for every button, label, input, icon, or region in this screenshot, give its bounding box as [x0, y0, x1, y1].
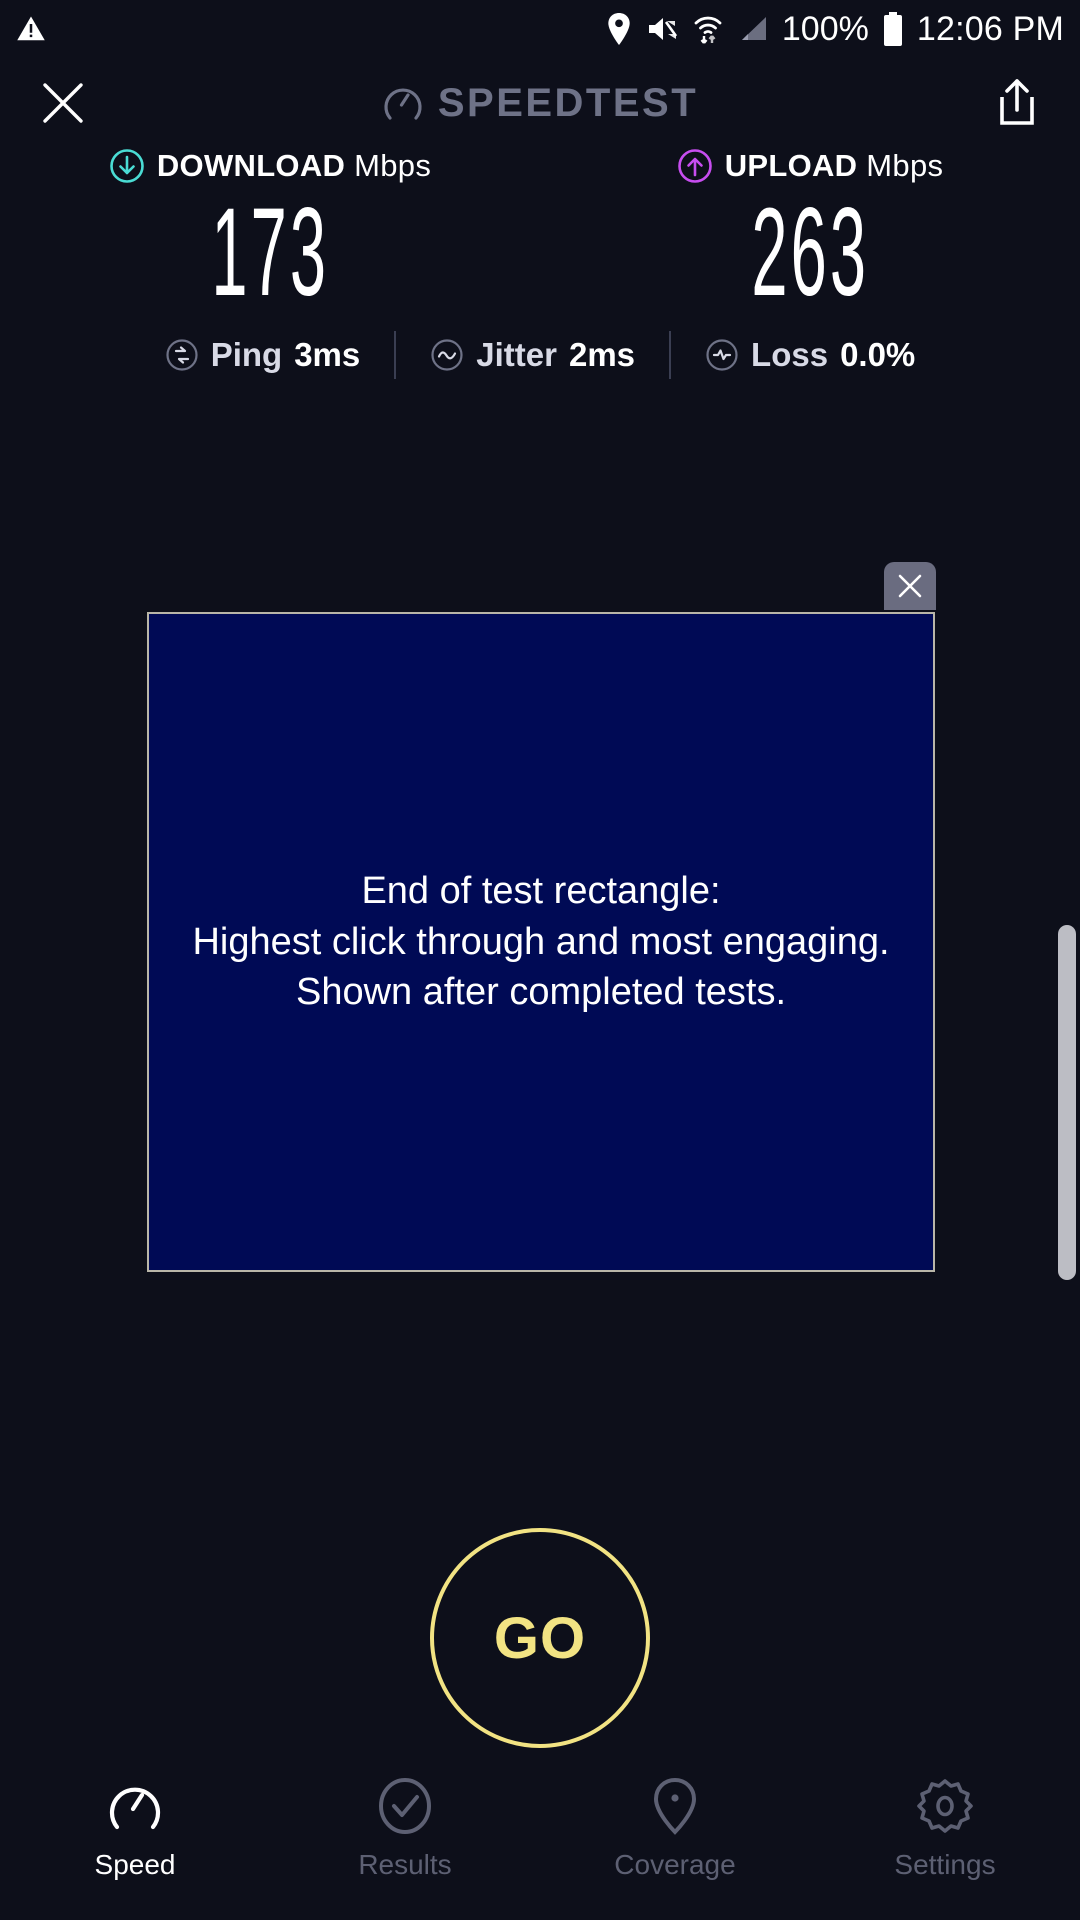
- speedtest-app-screen: 100% 12:06 PM SPEEDTEST: [0, 0, 1080, 1920]
- close-icon: [895, 571, 925, 601]
- nav-item-results[interactable]: Results: [270, 1777, 540, 1881]
- arrow-down-circle-icon: [109, 148, 145, 184]
- status-bar: 100% 12:06 PM: [0, 0, 1080, 58]
- ad-line-2: Highest click through and most engaging.: [192, 917, 889, 968]
- location-pin-icon: [606, 13, 632, 45]
- share-button[interactable]: [994, 77, 1040, 129]
- jitter-value: 2ms: [569, 336, 635, 374]
- bottom-navigation: Speed Results Coverage: [0, 1765, 1080, 1920]
- ad-text: End of test rectangle: Highest click thr…: [192, 866, 889, 1018]
- upload-metric: UPLOAD Mbps 263: [540, 148, 1080, 315]
- speed-values-row: DOWNLOAD Mbps 173 UPLOAD Mbps 263: [0, 148, 1080, 315]
- nav-label-settings: Settings: [894, 1849, 995, 1881]
- nav-label-results: Results: [358, 1849, 451, 1881]
- advertisement-banner[interactable]: End of test rectangle: Highest click thr…: [147, 612, 935, 1272]
- ping-stat: Ping 3ms: [131, 336, 395, 374]
- location-pin-icon: [646, 1777, 704, 1835]
- ad-close-button[interactable]: [884, 562, 936, 610]
- volume-muted-icon: [646, 14, 678, 44]
- nav-item-settings[interactable]: Settings: [810, 1777, 1080, 1881]
- status-bar-right: 100% 12:06 PM: [606, 10, 1064, 49]
- gear-icon: [916, 1777, 974, 1835]
- ad-line-3: Shown after completed tests.: [192, 967, 889, 1018]
- loss-icon: [705, 338, 739, 372]
- loss-value: 0.0%: [840, 336, 915, 374]
- ad-line-1: End of test rectangle:: [192, 866, 889, 917]
- speedometer-icon: [382, 82, 424, 124]
- results-summary: DOWNLOAD Mbps 173 UPLOAD Mbps 263: [0, 148, 1080, 379]
- jitter-icon: [430, 338, 464, 372]
- status-bar-left: [16, 14, 46, 44]
- arrow-up-circle-icon: [677, 148, 713, 184]
- upload-header: UPLOAD Mbps: [677, 148, 944, 184]
- download-metric: DOWNLOAD Mbps 173: [0, 148, 540, 315]
- network-stats-row: Ping 3ms Jitter 2ms: [0, 331, 1080, 379]
- jitter-label: Jitter: [476, 336, 557, 374]
- app-header: SPEEDTEST: [0, 58, 1080, 148]
- status-bar-clock: 12:06 PM: [917, 10, 1064, 49]
- ping-icon: [165, 338, 199, 372]
- ping-label: Ping: [211, 336, 283, 374]
- upload-value: 263: [751, 190, 869, 315]
- battery-full-icon: [883, 12, 903, 46]
- cell-signal-icon: [738, 14, 768, 44]
- go-button[interactable]: GO: [430, 1528, 650, 1748]
- download-label: DOWNLOAD Mbps: [157, 148, 431, 184]
- battery-percent: 100%: [782, 10, 869, 49]
- nav-item-coverage[interactable]: Coverage: [540, 1777, 810, 1881]
- ping-value: 3ms: [294, 336, 360, 374]
- jitter-stat: Jitter 2ms: [396, 336, 669, 374]
- nav-item-speed[interactable]: Speed: [0, 1777, 270, 1881]
- check-circle-icon: [376, 1777, 434, 1835]
- upload-label: UPLOAD Mbps: [725, 148, 944, 184]
- close-button[interactable]: [40, 80, 86, 126]
- scrollbar-thumb[interactable]: [1058, 925, 1076, 1280]
- loss-label: Loss: [751, 336, 828, 374]
- wifi-transfer-icon: [692, 13, 724, 45]
- nav-label-coverage: Coverage: [614, 1849, 735, 1881]
- loss-stat: Loss 0.0%: [671, 336, 949, 374]
- brand: SPEEDTEST: [382, 81, 698, 126]
- speedometer-icon: [106, 1777, 164, 1835]
- page-title: SPEEDTEST: [438, 81, 698, 126]
- download-header: DOWNLOAD Mbps: [109, 148, 431, 184]
- warning-triangle-icon: [16, 14, 46, 44]
- go-button-label: GO: [494, 1605, 586, 1672]
- nav-label-speed: Speed: [95, 1849, 176, 1881]
- download-value: 173: [211, 190, 329, 315]
